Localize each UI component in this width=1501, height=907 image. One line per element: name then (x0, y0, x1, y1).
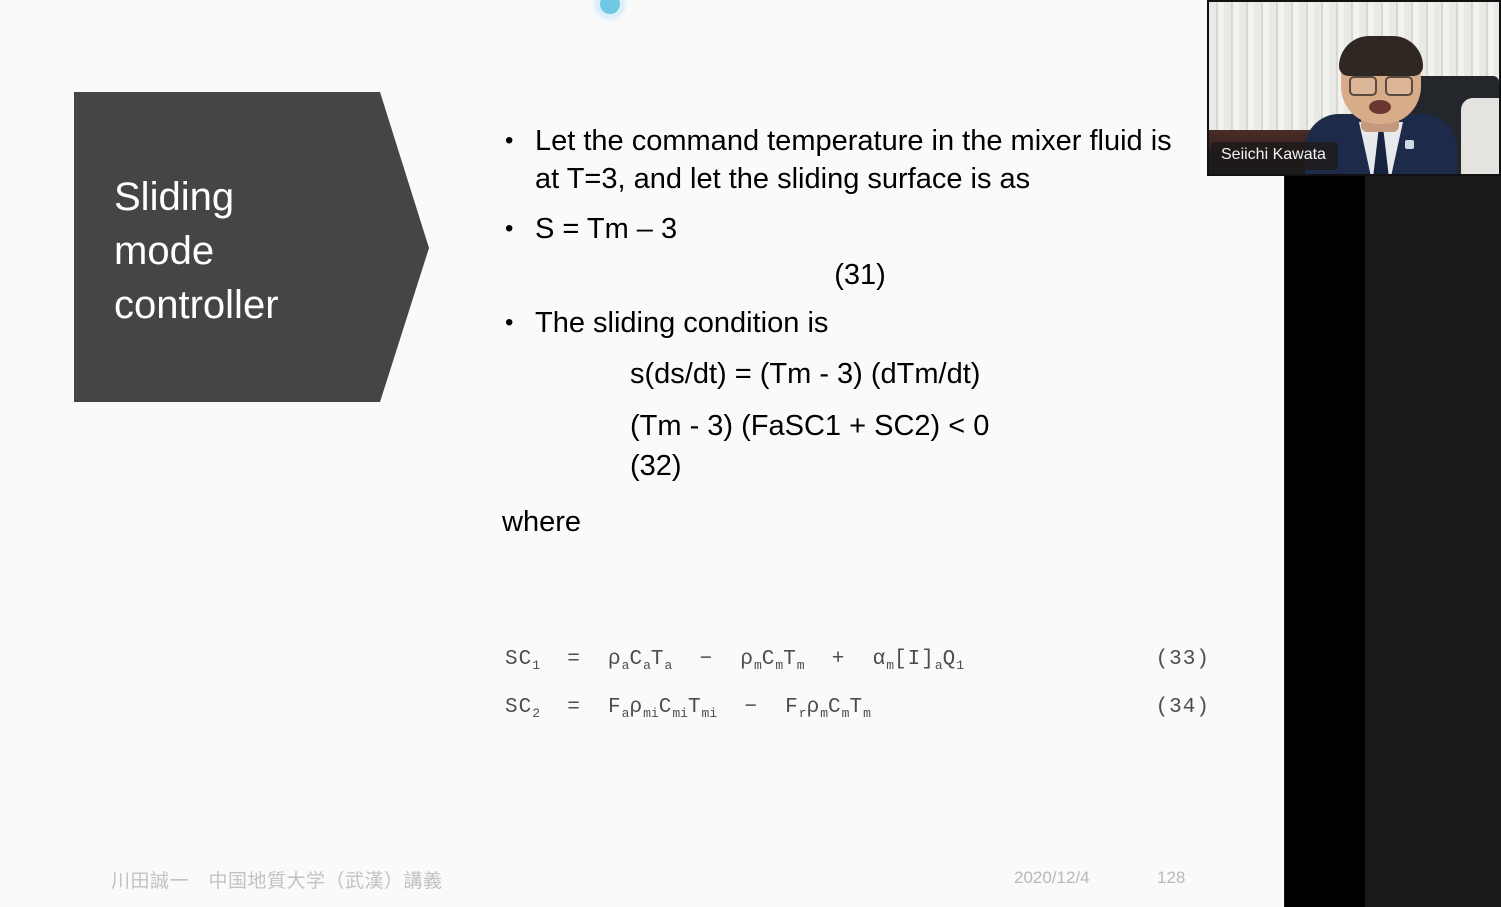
participant-name-label: Seiichi Kawata (1211, 142, 1338, 170)
scanned-equation-expression: SC1 = ρaCaTa − ρmCmTm + αm[I]aQ1 (505, 640, 964, 686)
video-person-glasses-left (1349, 76, 1377, 96)
equation-number-31: (31) (500, 256, 1200, 294)
slide-body: Let the command temperature in the mixer… (500, 122, 1200, 542)
scanned-equation-block: SC1 = ρaCaTa − ρmCmTm + αm[I]aQ1 (33) SC… (500, 640, 1200, 736)
bullet-item: Let the command temperature in the mixer… (500, 122, 1200, 198)
where-label: where (500, 502, 1200, 542)
circle-button-icon[interactable] (592, 0, 628, 22)
page-title: Sliding mode controller (114, 170, 364, 332)
footer-lecture-label: 川田誠一 中国地質大学（武漢）講義 (111, 866, 443, 893)
bullet-item: The sliding condition is (500, 304, 1200, 342)
presentation-slide: Sliding mode controller Let the command … (0, 0, 1284, 907)
footer-date: 2020/12/4 (1014, 868, 1090, 888)
footer-page-number: 128 (1157, 868, 1185, 888)
video-person-glasses-right (1385, 76, 1413, 96)
video-person-hair (1339, 36, 1423, 76)
circle-button-inner-icon (600, 0, 620, 14)
equation-number-32: (32) (500, 446, 1200, 486)
scanned-equation-expression: SC2 = FaρmiCmiTmi − FrρmCmTm (505, 688, 871, 734)
bullet-item: S = Tm – 3 (500, 210, 1200, 248)
video-person-lapel-pin (1405, 140, 1414, 149)
video-person-mouth (1369, 100, 1391, 114)
equation-line: s(ds/dt) = (Tm - 3) (dTm/dt) (500, 354, 1200, 394)
scanned-equation-row: SC1 = ρaCaTa − ρmCmTm + αm[I]aQ1 (33) (500, 640, 1200, 688)
scanned-equation-number: (34) (1156, 688, 1210, 728)
equation-line: (Tm - 3) (FaSC1 + SC2) < 0 (500, 406, 1200, 446)
video-chair-side (1461, 98, 1501, 176)
scanned-equation-number: (33) (1156, 640, 1210, 680)
participant-video-tile[interactable]: Seiichi Kawata (1207, 0, 1501, 176)
meeting-screen-share-view: Sliding mode controller Let the command … (0, 0, 1501, 907)
scanned-equation-row: SC2 = FaρmiCmiTmi − FrρmCmTm (34) (500, 688, 1200, 736)
